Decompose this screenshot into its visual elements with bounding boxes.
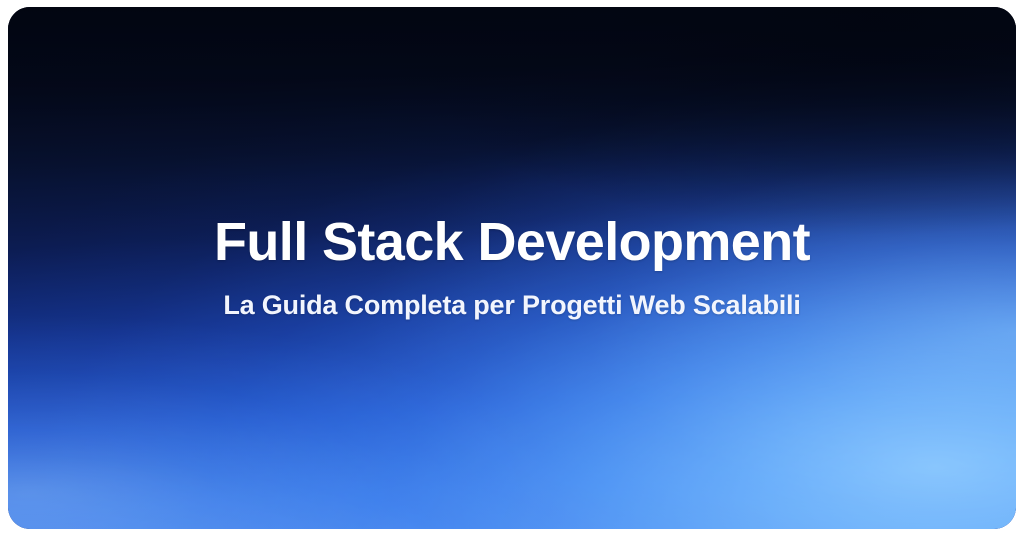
slide-subtitle: La Guida Completa per Progetti Web Scala…	[183, 289, 840, 321]
slide-frame: Full Stack Development La Guida Completa…	[0, 0, 1024, 536]
title-slide-card: Full Stack Development La Guida Completa…	[8, 7, 1016, 529]
slide-content: Full Stack Development La Guida Completa…	[8, 7, 1016, 529]
slide-title: Full Stack Development	[174, 214, 850, 270]
